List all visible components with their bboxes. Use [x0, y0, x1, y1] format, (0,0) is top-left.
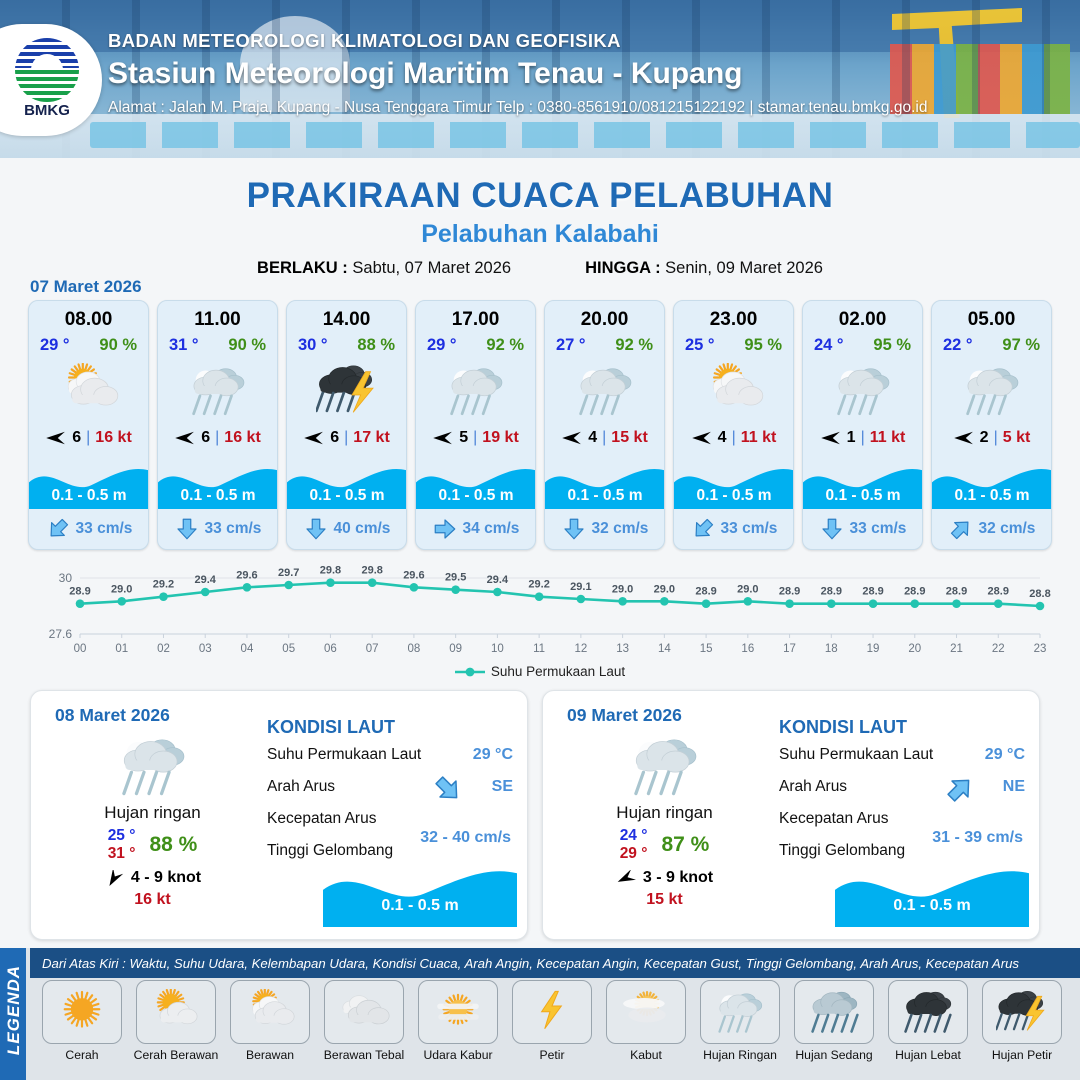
card-wind-row: 6 | 17 kt — [287, 429, 406, 447]
legend-berawan-icon — [230, 980, 310, 1044]
card-current-row: 33 cm/s — [158, 517, 278, 541]
valid-to-value: Senin, 09 Maret 2026 — [665, 259, 823, 277]
svg-text:20: 20 — [908, 643, 921, 655]
svg-text:04: 04 — [241, 643, 254, 655]
agency-name: BADAN METEOROLOGI KLIMATOLOGI DAN GEOFIS… — [108, 30, 927, 52]
hourly-card: 14.00 30 ° 88 % 6 | 17 kt 0.1 - 0.5 m — [286, 300, 407, 550]
svg-text:16: 16 — [741, 643, 754, 655]
panel-temp-min: 24 ° — [620, 827, 648, 845]
legend-bar: LEGENDA Dari Atas Kiri : Waktu, Suhu Uda… — [0, 948, 1080, 1080]
card-wave-height: 0.1 - 0.5 m — [287, 487, 407, 505]
card-wind-direction-value: 4 — [718, 429, 727, 447]
card-time: 20.00 — [545, 309, 664, 331]
panel-row-sst: Suhu Permukaan Laut 29 °C — [779, 746, 1029, 778]
svg-text:02: 02 — [157, 643, 170, 655]
chart-legend-label: Suhu Permukaan Laut — [491, 664, 625, 679]
chart-legend-marker — [455, 666, 485, 678]
valid-to: HINGGA : Senin, 09 Maret 2026 — [585, 259, 823, 278]
panel-wind-row: 3 - 9 knot — [557, 869, 772, 887]
legend-berawan-tebal-icon — [324, 980, 404, 1044]
card-separator: | — [861, 429, 865, 447]
wind-direction-icon — [820, 430, 842, 446]
card-gust-speed: 17 kt — [353, 429, 389, 447]
current-direction-icon — [820, 517, 844, 541]
svg-text:29.0: 29.0 — [654, 583, 675, 595]
card-wind-row: 6 | 16 kt — [29, 429, 148, 447]
svg-text:29.6: 29.6 — [403, 569, 424, 581]
panel-wind-row: 4 - 9 knot — [45, 869, 260, 887]
svg-text:29.1: 29.1 — [570, 581, 591, 593]
card-wind-direction-value: 6 — [72, 429, 81, 447]
card-wind-row: 4 | 11 kt — [674, 429, 793, 447]
current-direction-icon — [944, 512, 978, 546]
svg-text:29.2: 29.2 — [153, 579, 174, 591]
svg-text:15: 15 — [700, 643, 713, 655]
panel-row-sst: Suhu Permukaan Laut 29 °C — [267, 746, 517, 778]
card-weather-hujan-ringan-icon — [932, 359, 1051, 421]
legend-item-label: Berawan Tebal — [320, 1048, 408, 1062]
svg-text:09: 09 — [449, 643, 462, 655]
card-wind-direction-value: 2 — [980, 429, 989, 447]
panel-wind-range: 3 - 9 knot — [643, 869, 713, 887]
svg-text:27.6: 27.6 — [49, 627, 73, 641]
svg-text:28.9: 28.9 — [988, 586, 1009, 598]
svg-text:30: 30 — [59, 571, 73, 585]
svg-text:28.9: 28.9 — [779, 586, 800, 598]
svg-text:29.8: 29.8 — [361, 565, 382, 577]
svg-text:08: 08 — [408, 643, 421, 655]
panel-row-current-dir: Arah Arus NE — [779, 778, 1029, 810]
card-temperature: 27 ° — [556, 336, 586, 355]
card-temperature: 25 ° — [685, 336, 715, 355]
panel-gust: 16 kt — [45, 891, 260, 909]
card-time: 23.00 — [674, 309, 793, 331]
card-weather-hujan-ringan-icon — [545, 359, 664, 421]
panel-temp-min: 25 ° — [108, 827, 136, 845]
legend-side-title: LEGENDA — [4, 960, 24, 1060]
legend-item-label: Kabut — [602, 1048, 690, 1062]
card-weather-berawan-icon — [29, 359, 148, 421]
legend-cerah-berawan-icon — [136, 980, 216, 1044]
card-time: 11.00 — [158, 309, 277, 331]
card-current-speed: 34 cm/s — [463, 520, 520, 538]
wind-direction-icon — [953, 430, 975, 446]
legend-item: Cerah — [38, 980, 126, 1062]
legend-item-label: Udara Kabur — [414, 1048, 502, 1062]
card-weather-hujan-petir-icon — [287, 359, 406, 421]
panel-temp-max: 29 ° — [620, 845, 648, 863]
svg-text:01: 01 — [115, 643, 128, 655]
card-separator: | — [473, 429, 477, 447]
svg-text:19: 19 — [867, 643, 880, 655]
card-wave-height: 0.1 - 0.5 m — [545, 487, 665, 505]
card-wind-row: 5 | 19 kt — [416, 429, 535, 447]
card-gust-speed: 15 kt — [611, 429, 647, 447]
card-time: 17.00 — [416, 309, 535, 331]
wave-graphic — [835, 863, 1029, 927]
header-text-block: BADAN METEOROLOGI KLIMATOLOGI DAN GEOFIS… — [108, 30, 927, 117]
legend-side-tab: LEGENDA — [0, 948, 26, 1080]
card-time: 02.00 — [803, 309, 922, 331]
card-current-row: 32 cm/s — [545, 517, 665, 541]
svg-text:00: 00 — [74, 643, 87, 655]
title-block: PRAKIRAAN CUACA PELABUHAN Pelabuhan Kala… — [0, 176, 1080, 278]
daily-forecast-panels: 08 Maret 2026 Hujan ringan 25 ° 31 ° 88 … — [30, 690, 1052, 940]
panel-summary: Hujan ringan 24 ° 29 ° 87 % 3 - 9 knot 1… — [557, 731, 772, 909]
hourly-card: 17.00 29 ° 92 % 5 | 19 kt 0.1 - 0.5 m — [415, 300, 536, 550]
card-current-row: 40 cm/s — [287, 517, 407, 541]
card-current-row: 33 cm/s — [674, 517, 794, 541]
svg-text:22: 22 — [992, 643, 1005, 655]
svg-text:05: 05 — [282, 643, 295, 655]
header-seats-illustration — [90, 122, 1080, 148]
legend-item-label: Berawan — [226, 1048, 314, 1062]
card-humidity: 97 % — [1002, 336, 1040, 355]
card-wind-direction-value: 6 — [330, 429, 339, 447]
card-temp-hum-row: 29 ° 92 % — [416, 336, 535, 355]
card-humidity: 95 % — [744, 336, 782, 355]
svg-text:07: 07 — [366, 643, 379, 655]
card-gust-speed: 19 kt — [482, 429, 518, 447]
wind-direction-icon — [691, 430, 713, 446]
svg-text:29.4: 29.4 — [487, 574, 509, 586]
wave-graphic — [323, 863, 517, 927]
legend-item: Hujan Sedang — [790, 980, 878, 1062]
card-current-row: 33 cm/s — [29, 517, 149, 541]
page-subtitle: Pelabuhan Kalabahi — [0, 220, 1080, 249]
panel-date: 08 Maret 2026 — [55, 705, 170, 726]
card-humidity: 92 % — [615, 336, 653, 355]
legend-note: Dari Atas Kiri : Waktu, Suhu Udara, Kele… — [30, 948, 1080, 978]
panel-date: 09 Maret 2026 — [567, 705, 682, 726]
panel-wave-graphic — [835, 863, 1029, 927]
svg-text:28.9: 28.9 — [821, 586, 842, 598]
legend-item: Hujan Lebat — [884, 980, 972, 1062]
legend-item: Cerah Berawan — [132, 980, 220, 1062]
svg-text:13: 13 — [616, 643, 629, 655]
card-gust-speed: 11 kt — [741, 429, 777, 447]
card-temperature: 30 ° — [298, 336, 328, 355]
panel-wind-range: 4 - 9 knot — [131, 869, 201, 887]
card-wind-row: 4 | 15 kt — [545, 429, 664, 447]
svg-text:14: 14 — [658, 643, 671, 655]
panel-row-wave-label: Tinggi Gelombang — [779, 842, 905, 859]
card-separator: | — [344, 429, 348, 447]
svg-text:28.9: 28.9 — [69, 586, 90, 598]
legend-item-label: Hujan Petir — [978, 1048, 1066, 1062]
panel-sea-title: KONDISI LAUT — [267, 717, 517, 738]
panel-row-current-dir-label: Arah Arus — [267, 778, 335, 795]
svg-text:06: 06 — [324, 643, 337, 655]
hourly-card: 02.00 24 ° 95 % 1 | 11 kt 0.1 - 0.5 m — [802, 300, 923, 550]
panel-condition: Hujan ringan — [557, 803, 772, 823]
svg-text:21: 21 — [950, 643, 963, 655]
legend-item: Hujan Ringan — [696, 980, 784, 1062]
legend-udara-kabur-icon — [418, 980, 498, 1044]
card-current-speed: 32 cm/s — [979, 520, 1036, 538]
card-current-speed: 33 cm/s — [205, 520, 262, 538]
current-direction-icon — [433, 517, 457, 541]
bmkg-logo-text: BMKG — [11, 102, 83, 119]
card-wave-height: 0.1 - 0.5 m — [803, 487, 923, 505]
validity-row: BERLAKU : Sabtu, 07 Maret 2026 HINGGA : … — [0, 259, 1080, 278]
legend-item: Hujan Petir — [978, 980, 1066, 1062]
panel-weather-hujan-ringan-icon — [557, 731, 772, 799]
card-separator: | — [602, 429, 606, 447]
card-temp-hum-row: 22 ° 97 % — [932, 336, 1051, 355]
card-humidity: 90 % — [99, 336, 137, 355]
panel-row-current-speed-label: Kecepatan Arus — [267, 810, 376, 827]
card-current-speed: 33 cm/s — [721, 520, 778, 538]
card-temperature: 31 ° — [169, 336, 199, 355]
legend-item-label: Hujan Lebat — [884, 1048, 972, 1062]
current-direction-icon — [304, 517, 328, 541]
panel-row-sst-label: Suhu Permukaan Laut — [267, 746, 421, 763]
svg-text:29.0: 29.0 — [737, 583, 758, 595]
panel-sea-conditions: KONDISI LAUT Suhu Permukaan Laut 29 °C A… — [779, 717, 1029, 874]
card-current-speed: 40 cm/s — [334, 520, 391, 538]
legend-hujan-ringan-icon — [700, 980, 780, 1044]
svg-text:28.9: 28.9 — [946, 586, 967, 598]
current-direction-icon — [41, 512, 75, 546]
card-gust-speed: 16 kt — [95, 429, 131, 447]
card-wind-row: 1 | 11 kt — [803, 429, 922, 447]
panel-row-current-dir-value: NE — [1003, 778, 1025, 796]
card-humidity: 95 % — [873, 336, 911, 355]
card-separator: | — [215, 429, 219, 447]
wind-direction-icon — [174, 430, 196, 446]
card-temp-hum-row: 27 ° 92 % — [545, 336, 664, 355]
legend-item: Udara Kabur — [414, 980, 502, 1062]
card-time: 14.00 — [287, 309, 406, 331]
card-wind-direction-value: 5 — [459, 429, 468, 447]
card-wind-direction-value: 1 — [847, 429, 856, 447]
legend-item-label: Cerah Berawan — [132, 1048, 220, 1062]
chart-legend: Suhu Permukaan Laut — [28, 664, 1052, 679]
hourly-card: 05.00 22 ° 97 % 2 | 5 kt 0.1 - 0.5 m — [931, 300, 1052, 550]
panel-gust: 15 kt — [557, 891, 772, 909]
legend-petir-icon — [512, 980, 592, 1044]
hourly-card: 08.00 29 ° 90 % 6 | 16 kt 0.1 - 0.5 m — [28, 300, 149, 550]
panel-row-sst-value: 29 °C — [473, 746, 513, 764]
legend-item-label: Petir — [508, 1048, 596, 1062]
card-weather-hujan-ringan-icon — [158, 359, 277, 421]
daily-forecast-panel: 08 Maret 2026 Hujan ringan 25 ° 31 ° 88 … — [30, 690, 528, 940]
svg-text:03: 03 — [199, 643, 212, 655]
card-temp-hum-row: 31 ° 90 % — [158, 336, 277, 355]
hourly-forecast-cards: 08.00 29 ° 90 % 6 | 16 kt 0.1 - 0.5 m — [28, 300, 1052, 550]
hourly-date-label: 07 Maret 2026 — [30, 277, 142, 297]
station-address: Alamat : Jalan M. Praja, Kupang - Nusa T… — [108, 99, 927, 117]
legend-hujan-sedang-icon — [794, 980, 874, 1044]
svg-text:29.5: 29.5 — [445, 572, 466, 584]
panel-current-direction-icon-wrap — [945, 774, 975, 809]
panel-row-current-dir: Arah Arus SE — [267, 778, 517, 810]
card-wave-height: 0.1 - 0.5 m — [29, 487, 149, 505]
card-current-speed: 33 cm/s — [76, 520, 133, 538]
card-separator: | — [732, 429, 736, 447]
svg-text:10: 10 — [491, 643, 504, 655]
card-temp-hum-row: 24 ° 95 % — [803, 336, 922, 355]
svg-text:28.9: 28.9 — [695, 586, 716, 598]
card-temperature: 29 ° — [427, 336, 457, 355]
current-direction-icon — [686, 512, 720, 546]
panel-weather-hujan-ringan-icon — [45, 731, 260, 799]
svg-text:28.9: 28.9 — [904, 586, 925, 598]
current-direction-icon — [939, 768, 981, 810]
svg-text:29.0: 29.0 — [111, 583, 132, 595]
hourly-card: 23.00 25 ° 95 % 4 | 11 kt 0.1 - 0.5 m — [673, 300, 794, 550]
bmkg-logo-emblem — [15, 38, 79, 102]
card-wind-row: 2 | 5 kt — [932, 429, 1051, 447]
card-wave-height: 0.1 - 0.5 m — [932, 487, 1052, 505]
legend-item-label: Hujan Ringan — [696, 1048, 784, 1062]
card-current-row: 33 cm/s — [803, 517, 923, 541]
daily-forecast-panel: 09 Maret 2026 Hujan ringan 24 ° 29 ° 87 … — [542, 690, 1040, 940]
card-wind-direction-value: 4 — [588, 429, 597, 447]
svg-text:29.2: 29.2 — [528, 579, 549, 591]
svg-text:12: 12 — [574, 643, 587, 655]
svg-text:28.8: 28.8 — [1029, 588, 1050, 600]
legend-item: Petir — [508, 980, 596, 1062]
card-weather-hujan-ringan-icon — [416, 359, 535, 421]
panel-row-current-dir-label: Arah Arus — [779, 778, 847, 795]
card-time: 08.00 — [29, 309, 148, 331]
panel-condition: Hujan ringan — [45, 803, 260, 823]
sea-temperature-chart: 3027.60001020304050607080910111213141516… — [28, 560, 1052, 690]
card-current-row: 32 cm/s — [932, 517, 1052, 541]
card-wave-height: 0.1 - 0.5 m — [674, 487, 794, 505]
svg-text:29.0: 29.0 — [612, 583, 633, 595]
card-separator: | — [86, 429, 90, 447]
legend-item: Berawan — [226, 980, 314, 1062]
valid-from-label: BERLAKU : — [257, 259, 348, 277]
hourly-card: 20.00 27 ° 92 % 4 | 15 kt 0.1 - 0.5 m — [544, 300, 665, 550]
card-wave-height: 0.1 - 0.5 m — [416, 487, 536, 505]
svg-text:29.8: 29.8 — [320, 565, 341, 577]
current-direction-icon — [427, 768, 469, 810]
forecast-poster: BMKG BADAN METEOROLOGI KLIMATOLOGI DAN G… — [0, 0, 1080, 1080]
card-weather-hujan-ringan-icon — [803, 359, 922, 421]
panel-row-sst-label: Suhu Permukaan Laut — [779, 746, 933, 763]
panel-humidity: 88 % — [149, 833, 197, 857]
panel-temp-row: 24 ° 29 ° 87 % — [557, 827, 772, 863]
card-wind-row: 6 | 16 kt — [158, 429, 277, 447]
panel-wave-graphic — [323, 863, 517, 927]
card-humidity: 88 % — [357, 336, 395, 355]
panel-temp-max: 31 ° — [108, 845, 136, 863]
svg-text:28.9: 28.9 — [862, 586, 883, 598]
card-weather-berawan-icon — [674, 359, 793, 421]
card-gust-speed: 11 kt — [870, 429, 906, 447]
card-wave-height: 0.1 - 0.5 m — [158, 487, 278, 505]
valid-to-label: HINGGA : — [585, 259, 660, 277]
wind-direction-icon — [45, 430, 67, 446]
card-temperature: 22 ° — [943, 336, 973, 355]
legend-hujan-lebat-icon — [888, 980, 968, 1044]
card-temp-hum-row: 25 ° 95 % — [674, 336, 793, 355]
panel-row-sst-value: 29 °C — [985, 746, 1025, 764]
valid-from-value: Sabtu, 07 Maret 2026 — [352, 259, 511, 277]
station-name: Stasiun Meteorologi Maritim Tenau - Kupa… — [108, 57, 927, 91]
wind-direction-icon — [432, 430, 454, 446]
panel-summary: Hujan ringan 25 ° 31 ° 88 % 4 - 9 knot 1… — [45, 731, 260, 909]
card-humidity: 90 % — [228, 336, 266, 355]
card-separator: | — [994, 429, 998, 447]
page-header: BMKG BADAN METEOROLOGI KLIMATOLOGI DAN G… — [0, 0, 1080, 158]
svg-text:18: 18 — [825, 643, 838, 655]
card-current-speed: 32 cm/s — [592, 520, 649, 538]
panel-humidity: 87 % — [661, 833, 709, 857]
card-gust-speed: 16 kt — [224, 429, 260, 447]
svg-text:23: 23 — [1034, 643, 1047, 655]
legend-item-label: Cerah — [38, 1048, 126, 1062]
card-gust-speed: 5 kt — [1003, 429, 1031, 447]
panel-temp-row: 25 ° 31 ° 88 % — [45, 827, 260, 863]
legend-kabut-icon — [606, 980, 686, 1044]
legend-cerah-icon — [42, 980, 122, 1044]
legend-hujan-petir-icon — [982, 980, 1062, 1044]
panel-wave-value: 0.1 - 0.5 m — [835, 897, 1029, 915]
panel-sea-title: KONDISI LAUT — [779, 717, 1029, 738]
valid-from: BERLAKU : Sabtu, 07 Maret 2026 — [257, 259, 511, 278]
panel-row-current-speed-label: Kecepatan Arus — [779, 810, 888, 827]
card-current-speed: 33 cm/s — [850, 520, 907, 538]
panel-row-wave-label: Tinggi Gelombang — [267, 842, 393, 859]
chart-canvas: 3027.60001020304050607080910111213141516… — [28, 560, 1052, 660]
svg-text:29.4: 29.4 — [195, 574, 217, 586]
card-current-row: 34 cm/s — [416, 517, 536, 541]
svg-text:29.7: 29.7 — [278, 567, 299, 579]
hourly-card: 11.00 31 ° 90 % 6 | 16 kt 0.1 - 0.5 m — [157, 300, 278, 550]
current-direction-icon — [175, 517, 199, 541]
legend-item: Berawan Tebal — [320, 980, 408, 1062]
legend-item-label: Hujan Sedang — [790, 1048, 878, 1062]
card-temp-hum-row: 29 ° 90 % — [29, 336, 148, 355]
svg-text:17: 17 — [783, 643, 796, 655]
card-temperature: 29 ° — [40, 336, 70, 355]
panel-wind-direction-icon — [616, 870, 636, 886]
svg-text:29.6: 29.6 — [236, 569, 257, 581]
current-direction-icon — [562, 517, 586, 541]
card-wind-direction-value: 6 — [201, 429, 210, 447]
card-time: 05.00 — [932, 309, 1051, 331]
card-temp-hum-row: 30 ° 88 % — [287, 336, 406, 355]
panel-wave-value: 0.1 - 0.5 m — [323, 897, 517, 915]
panel-wind-direction-icon — [104, 870, 124, 886]
wind-direction-icon — [561, 430, 583, 446]
panel-row-current-dir-value: SE — [492, 778, 513, 796]
panel-sea-conditions: KONDISI LAUT Suhu Permukaan Laut 29 °C A… — [267, 717, 517, 874]
svg-text:11: 11 — [533, 643, 545, 655]
wind-direction-icon — [303, 430, 325, 446]
panel-current-direction-icon-wrap — [433, 774, 463, 809]
legend-items: Cerah Cerah Berawan Berawan — [30, 980, 1080, 1062]
legend-item: Kabut — [602, 980, 690, 1062]
card-humidity: 92 % — [486, 336, 524, 355]
page-title: PRAKIRAAN CUACA PELABUHAN — [0, 176, 1080, 216]
card-temperature: 24 ° — [814, 336, 844, 355]
